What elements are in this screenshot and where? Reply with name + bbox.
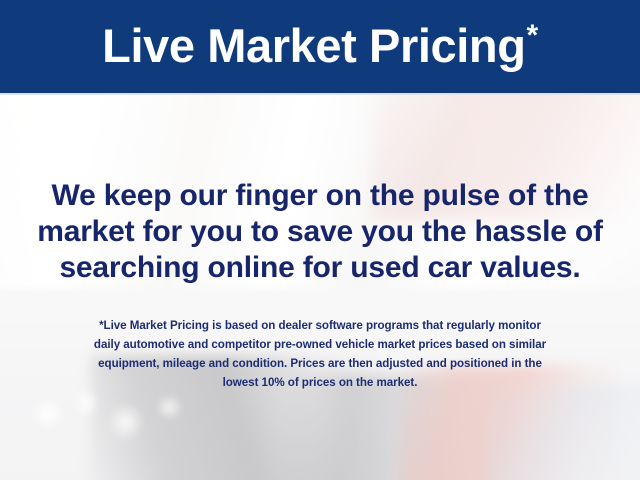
header-band: Live Market Pricing* [0,0,640,93]
headline-line-2: market for you to save you the hassle of [0,214,640,250]
live-market-pricing-slide: Live Market Pricing* We keep our finger … [0,0,640,480]
page-title: Live Market Pricing* [102,22,538,71]
headline-line-1: We keep our finger on the pulse of the [0,178,640,214]
headline-line-3: searching online for used car values. [0,250,640,286]
disclaimer-line-2: daily automotive and competitor pre-owne… [0,335,640,354]
page-title-text: Live Market Pricing [102,19,525,72]
disclaimer-line-3: equipment, mileage and condition. Prices… [0,354,640,373]
page-title-asterisk: * [527,19,538,52]
disclaimer-line-4: lowest 10% of prices on the market. [0,373,640,392]
disclaimer-block: *Live Market Pricing is based on dealer … [0,316,640,392]
header-divider [0,93,640,95]
disclaimer-line-1: *Live Market Pricing is based on dealer … [0,316,640,335]
headline-block: We keep our finger on the pulse of the m… [0,178,640,286]
